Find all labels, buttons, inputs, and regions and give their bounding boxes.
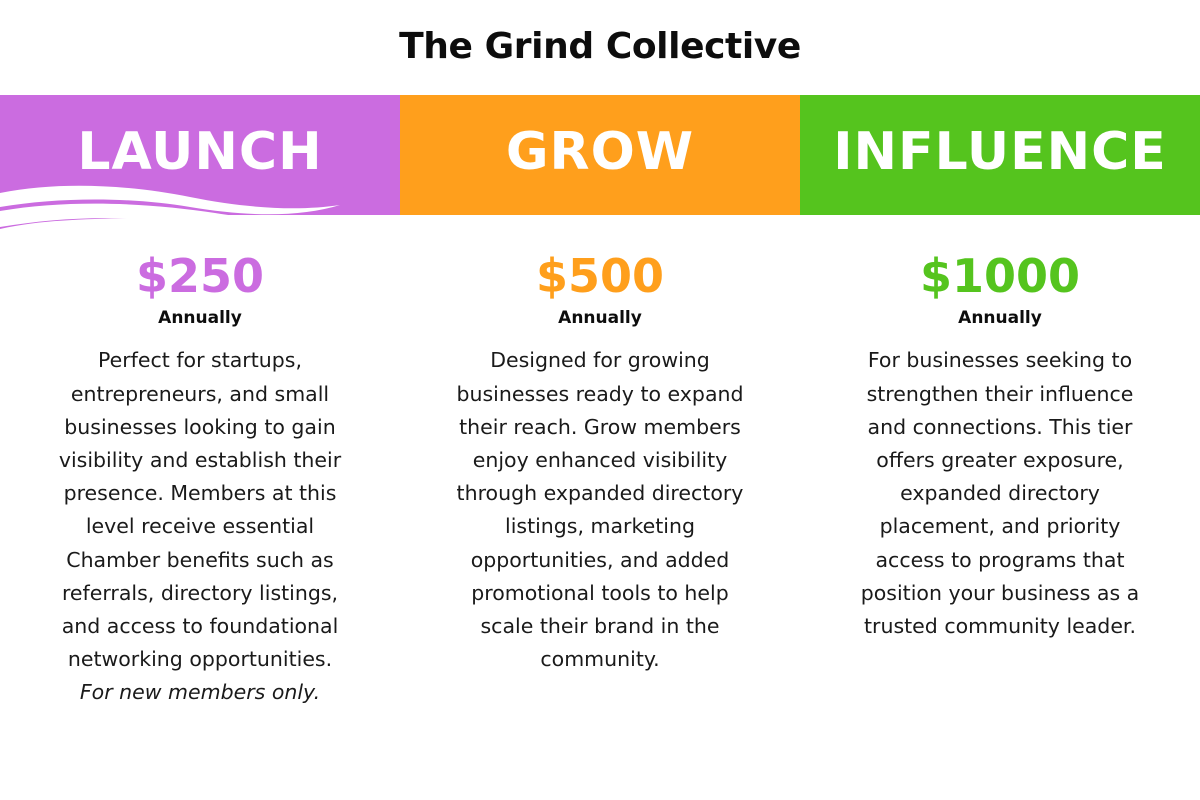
tier-name-grow: GROW xyxy=(506,126,694,178)
tier-description-text-grow: Designed for growing businesses ready to… xyxy=(456,348,743,671)
tier-name-influence: INFLUENCE xyxy=(833,126,1167,178)
tier-period-grow: Annually xyxy=(452,308,748,328)
tier-column-grow: $500 Annually Designed for growing busin… xyxy=(400,240,800,710)
tier-column-influence: $1000 Annually For businesses seeking to… xyxy=(800,240,1200,710)
tier-description-text-influence: For businesses seeking to strengthen the… xyxy=(861,348,1140,638)
tier-header-influence: INFLUENCE xyxy=(800,95,1200,215)
tier-header-grow: GROW xyxy=(400,95,800,215)
tier-description-influence: For businesses seeking to strengthen the… xyxy=(852,344,1148,643)
tier-price-grow: $500 xyxy=(452,252,748,300)
tier-header-band: LAUNCH GROW INFLUENCE xyxy=(0,95,1200,215)
tier-price-influence: $1000 xyxy=(852,252,1148,300)
tier-columns: $250 Annually Perfect for startups, entr… xyxy=(0,240,1200,710)
tier-period-influence: Annually xyxy=(852,308,1148,328)
tier-description-grow: Designed for growing businesses ready to… xyxy=(452,344,748,676)
tier-price-launch: $250 xyxy=(52,252,348,300)
tier-column-launch: $250 Annually Perfect for startups, entr… xyxy=(0,240,400,710)
tier-description-launch: Perfect for startups, entrepreneurs, and… xyxy=(52,344,348,709)
tier-description-note-launch: For new members only. xyxy=(80,680,320,704)
tier-description-text-launch: Perfect for startups, entrepreneurs, and… xyxy=(59,348,341,671)
pricing-table-page: The Grind Collective LAUNCH GROW INFLUEN… xyxy=(0,0,1200,800)
tier-name-launch: LAUNCH xyxy=(77,126,322,178)
page-title: The Grind Collective xyxy=(0,26,1200,67)
tier-header-launch: LAUNCH xyxy=(0,95,400,215)
tier-period-launch: Annually xyxy=(52,308,348,328)
